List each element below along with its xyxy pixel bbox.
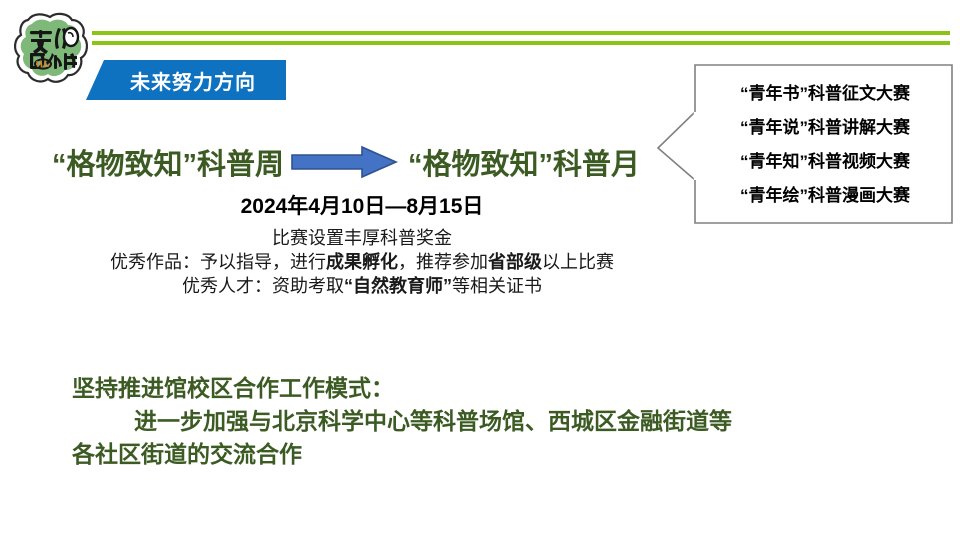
slide-canvas: 未来努力方向 “格物致知”科普周 “格物致知”科普月 2024年4月10日—8月… xyxy=(0,0,960,540)
body-line-2: 优秀作品：予以指导，进行成果孵化，推荐参加省部级以上比赛 xyxy=(52,250,672,274)
callout-item-1: “青年书”科普征文大赛 xyxy=(740,77,910,111)
callout-item-4: “青年绘”科普漫画大赛 xyxy=(740,179,910,213)
body-line-3-c: 等相关证书 xyxy=(452,276,542,296)
header-rule-top xyxy=(92,31,950,35)
brand-logo xyxy=(10,8,92,88)
body-line-3-a: 优秀人才：资助考取 xyxy=(182,276,344,296)
header-rule-bottom xyxy=(92,41,950,45)
headline-row: “格物致知”科普周 “格物致知”科普月 xyxy=(52,140,672,184)
right-arrow-icon xyxy=(290,142,402,182)
competitions-callout: “青年书”科普征文大赛 “青年说”科普讲解大赛 “青年知”科普视频大赛 “青年绘… xyxy=(655,60,955,228)
body-line-1: 比赛设置丰厚科普奖金 xyxy=(52,226,672,250)
body-line-3: 优秀人才：资助考取“自然教育师”等相关证书 xyxy=(52,274,672,298)
headline-left: “格物致知”科普周 xyxy=(52,141,284,183)
event-date: 2024年4月10日—8月15日 xyxy=(52,190,672,220)
headline-right: “格物致知”科普月 xyxy=(408,141,640,183)
callout-item-2: “青年说”科普讲解大赛 xyxy=(740,111,910,145)
body-line-2-a: 优秀作品：予以指导，进行 xyxy=(110,252,326,272)
closing-line-3: 各社区街道的交流合作 xyxy=(72,438,912,471)
section-banner-label: 未来努力方向 xyxy=(116,66,256,95)
body-line-2-c: ，推荐参加 xyxy=(398,252,488,272)
closing-line-2: 进一步加强与北京科学中心等科普场馆、西城区金融街道等 xyxy=(72,405,912,438)
body-line-3-bold: “自然教育师” xyxy=(344,276,452,296)
body-paragraph: 比赛设置丰厚科普奖金 优秀作品：予以指导，进行成果孵化，推荐参加省部级以上比赛 … xyxy=(52,226,672,298)
callout-item-list: “青年书”科普征文大赛 “青年说”科普讲解大赛 “青年知”科普视频大赛 “青年绘… xyxy=(700,70,950,220)
closing-line-1: 坚持推进馆校区合作工作模式： xyxy=(72,372,912,405)
logo-graphic xyxy=(10,8,92,88)
body-line-2-bold-2: 省部级 xyxy=(488,252,542,272)
closing-statement: 坚持推进馆校区合作工作模式： 进一步加强与北京科学中心等科普场馆、西城区金融街道… xyxy=(72,372,912,471)
section-banner: 未来努力方向 xyxy=(86,60,286,100)
body-line-2-e: 以上比赛 xyxy=(542,252,614,272)
body-line-2-bold-1: 成果孵化 xyxy=(326,252,398,272)
callout-item-3: “青年知”科普视频大赛 xyxy=(740,145,910,179)
